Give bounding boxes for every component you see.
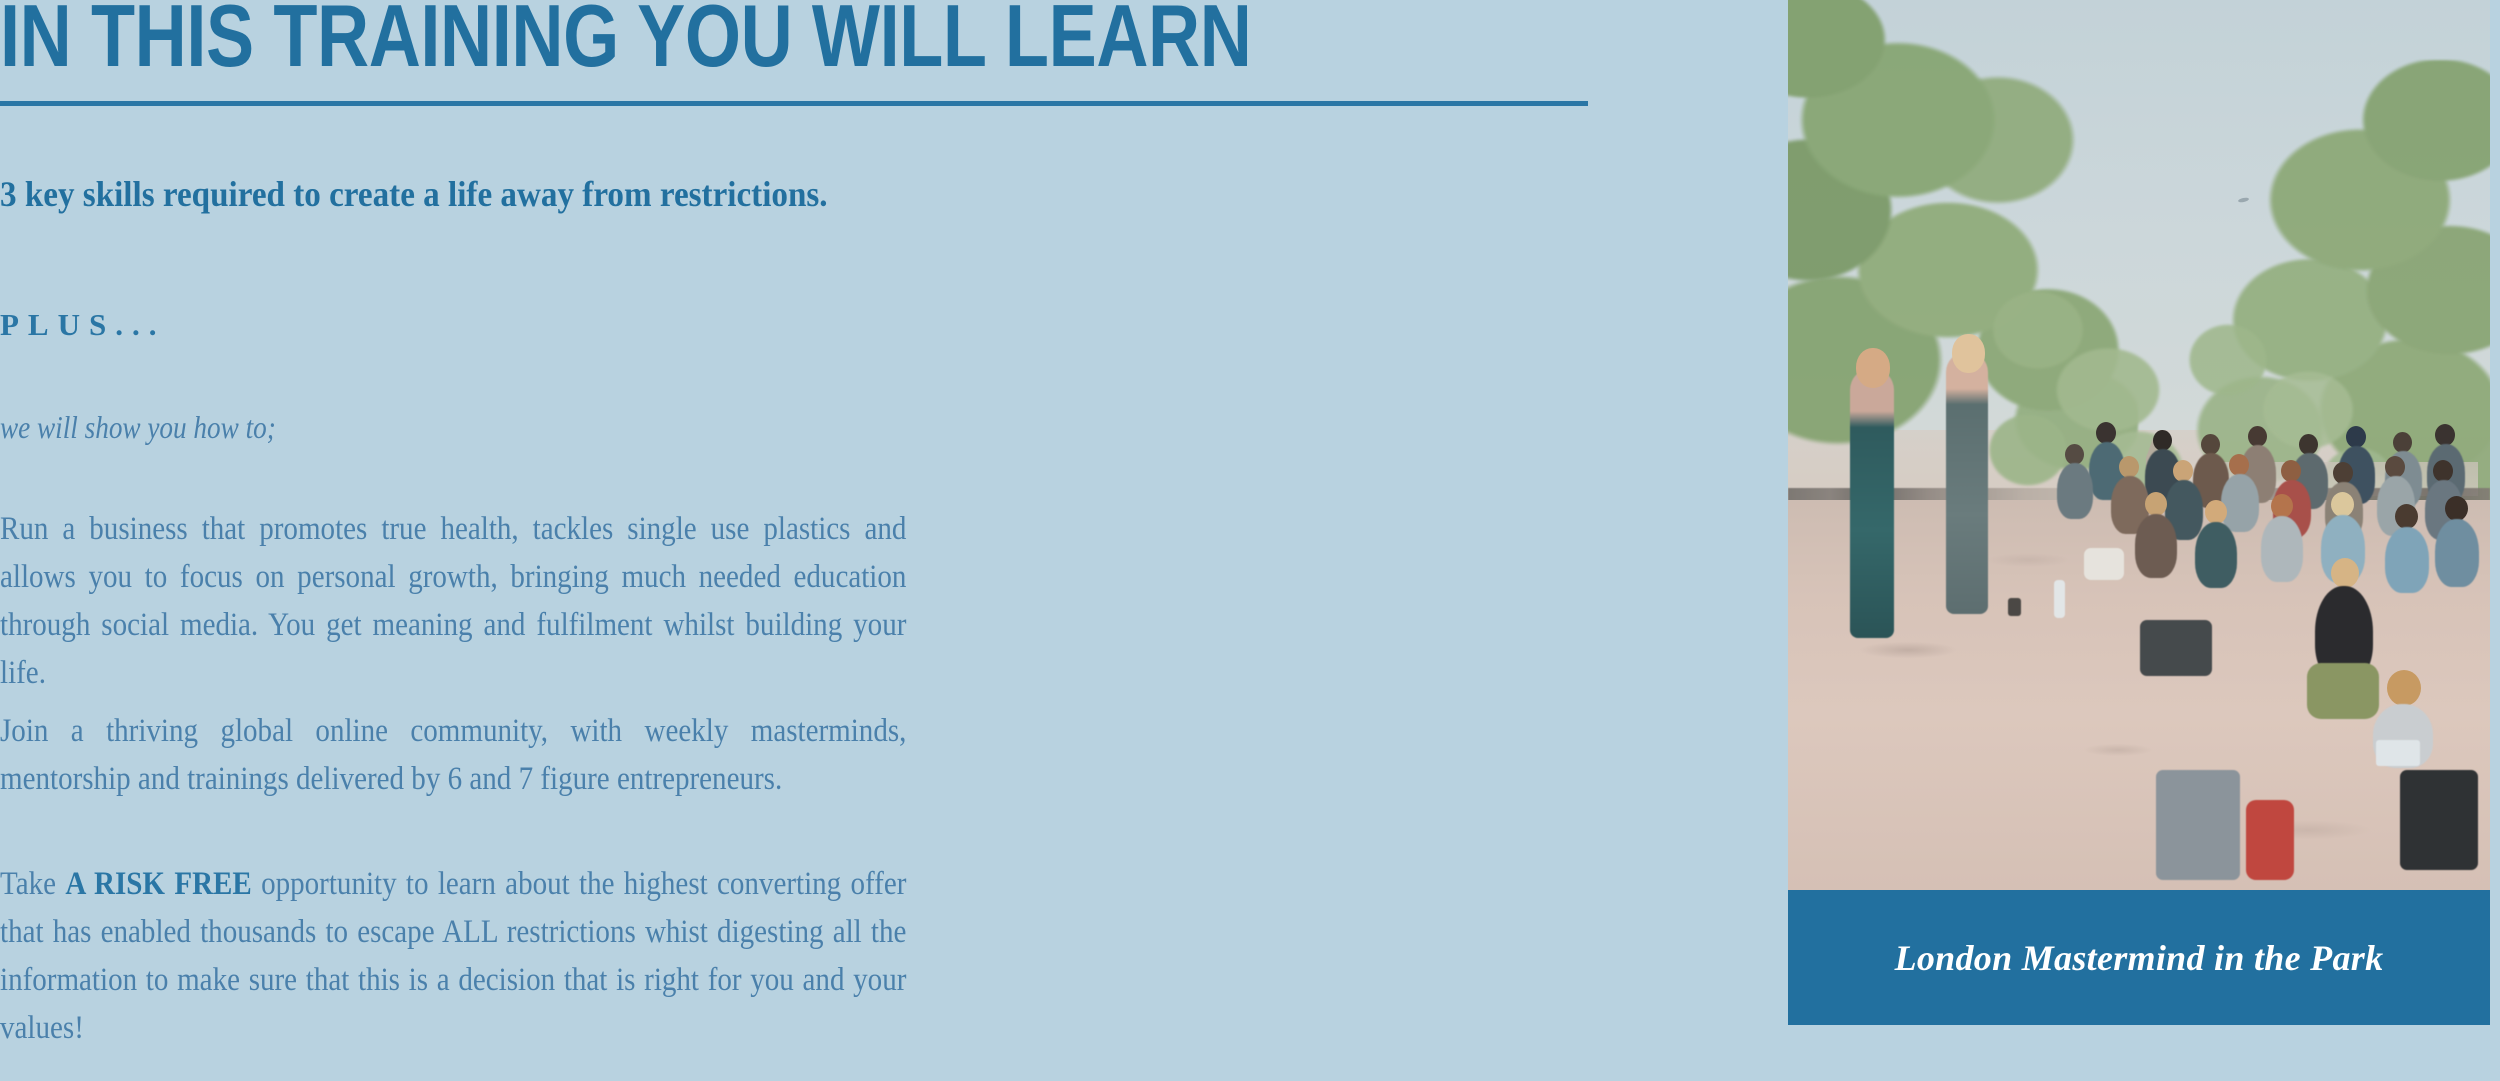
photo-caption: London Mastermind in the Park [1895,936,2384,980]
red-jacket [2246,800,2294,880]
page-title: IN THIS TRAINING YOU WILL LEARN [0,0,1312,86]
standing-person-left [1850,368,1894,638]
risk-free-emphasis: A RISK FREE [65,866,251,902]
promo-page: IN THIS TRAINING YOU WILL LEARN 3 key sk… [0,0,2500,1081]
paragraph-community: Join a thriving global online community,… [0,707,906,803]
standing-person-left-head [1856,348,1890,388]
plus-label: PLUS... [0,305,166,345]
content-column: IN THIS TRAINING YOU WILL LEARN 3 key sk… [0,0,1600,1081]
backpack-dark [2140,620,2212,676]
subheading: 3 key skills required to create a life a… [0,172,1435,216]
water-bottle [2054,580,2065,618]
standing-person-right [1946,352,1988,614]
white-bag [2084,548,2124,580]
paragraph-risk-free: Take A RISK FREE opportunity to learn ab… [0,860,906,1052]
photo-panel: London Mastermind in the Park [1788,0,2490,1025]
standing-person-right-head [1952,334,1985,373]
photo-caption-bar: London Mastermind in the Park [1788,890,2490,1025]
notebook [2376,740,2420,766]
title-divider [0,101,1588,106]
park-photo [1788,0,2490,890]
backpack-grey [2156,770,2240,880]
lead-in-text: we will show you how to; [0,407,276,447]
coffee-cup [2008,598,2021,616]
seated-crowd [1963,408,2490,768]
paragraph-business: Run a business that promotes true health… [0,505,906,697]
risk-free-prefix: Take [0,866,65,902]
backpack-black [2400,770,2478,870]
